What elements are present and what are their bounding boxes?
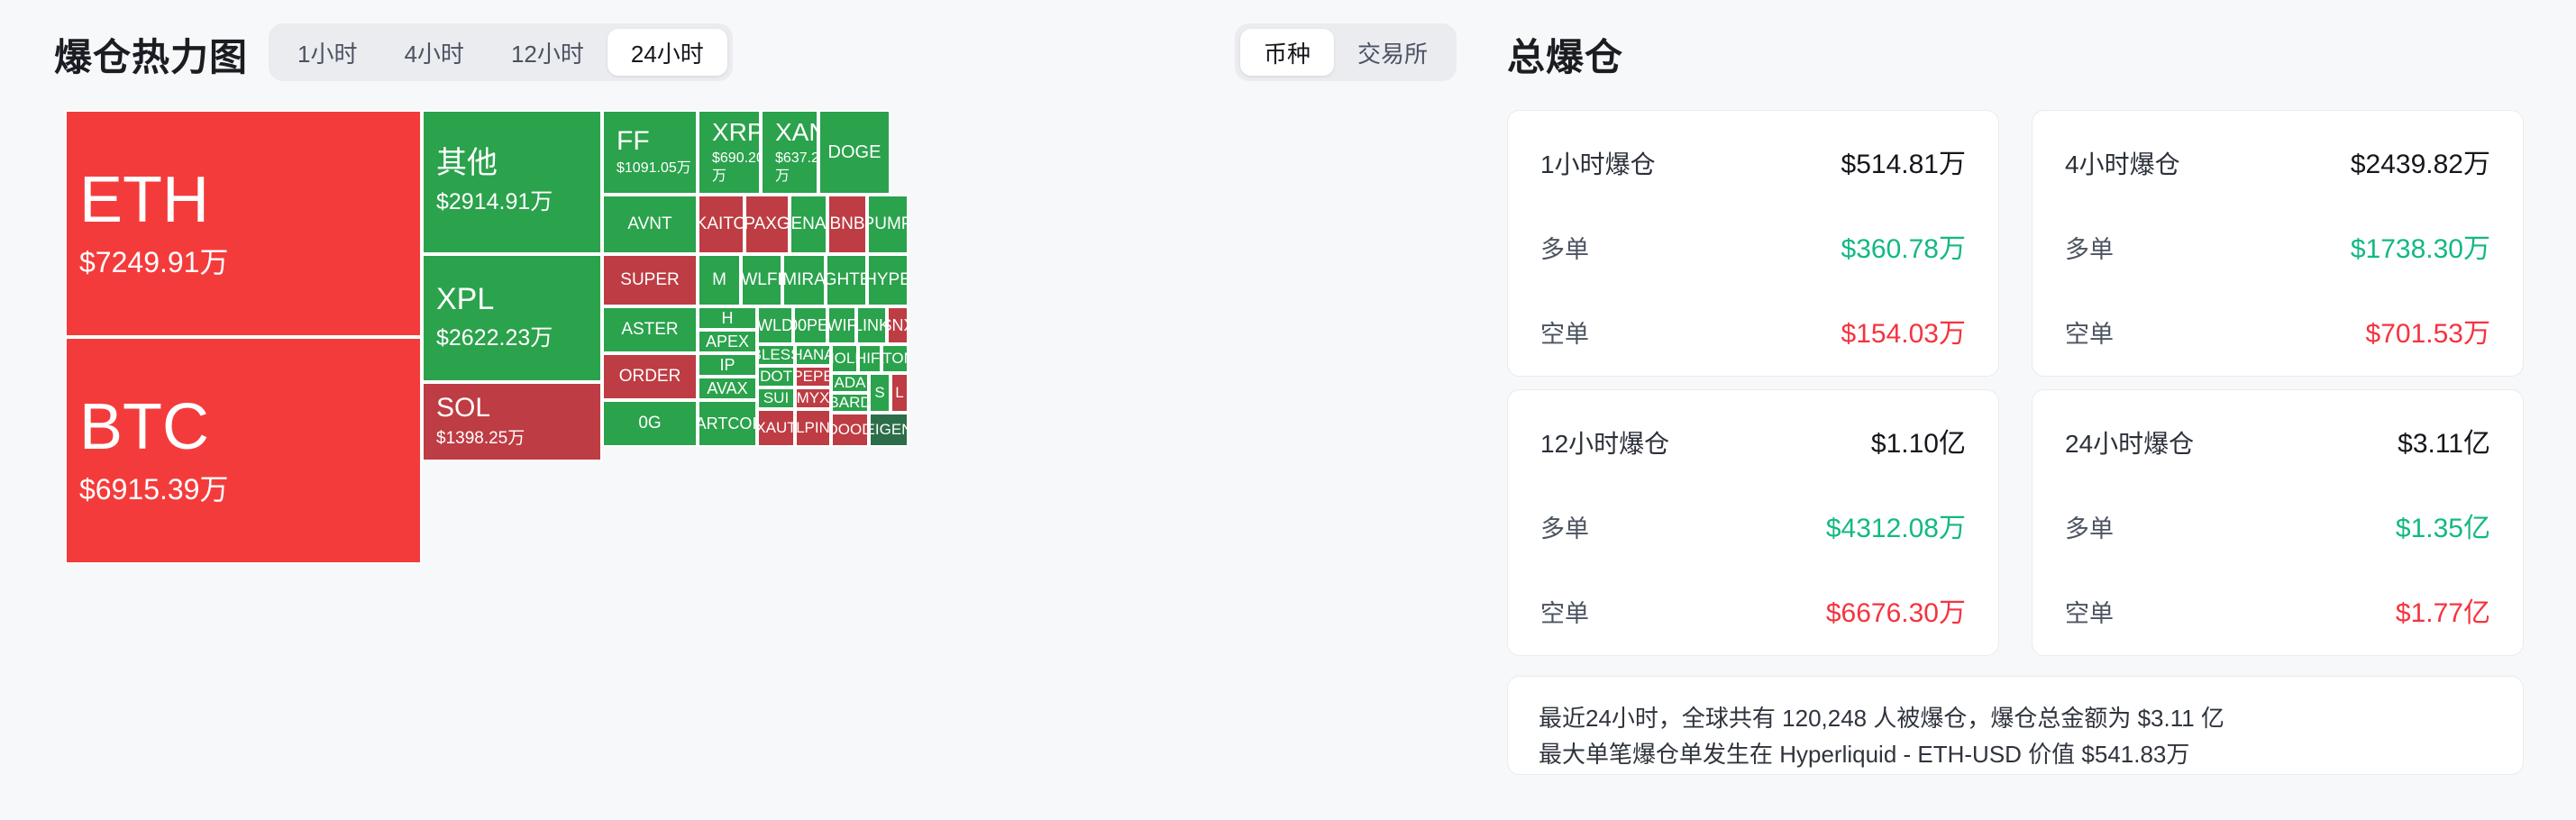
treemap-tile-wif[interactable]: WIF — [827, 306, 856, 344]
treemap-tile-ada[interactable]: ADA — [831, 373, 869, 393]
stat-card-12h[interactable]: 12小时爆仓 $1.10亿 多单 $4312.08万 空单 $6676.30万 — [1507, 389, 1999, 656]
tile-symbol: WLD — [757, 317, 793, 334]
tile-symbol: HANA — [795, 347, 831, 363]
tile-symbol: HOLD — [831, 351, 858, 367]
tile-value: $1091.05万 — [617, 159, 683, 178]
tile-symbol: LIGHTER — [826, 271, 867, 289]
short-value: $6676.30万 — [1826, 590, 1966, 630]
stat-long-row: 多单 $1738.30万 — [2065, 226, 2490, 266]
treemap-tile-hifi[interactable]: HIFI — [858, 344, 882, 373]
tile-symbol: ALPINE — [795, 420, 831, 436]
summary-card: 最近24小时，全球共有 120,248 人被爆仓，爆仓总金额为 $3.11 亿 … — [1507, 676, 2524, 775]
treemap-tile-pepe[interactable]: PEPE — [795, 366, 831, 387]
tile-symbol: MYX — [797, 390, 830, 406]
tile-value: $637.28万 — [775, 150, 804, 186]
tile-symbol: SUI — [763, 390, 789, 406]
tab-24h[interactable]: 24小时 — [607, 29, 727, 76]
treemap-tile-xaut[interactable]: XAUT — [757, 409, 795, 447]
treemap-tile-apex[interactable]: APEX — [698, 330, 757, 353]
short-value: $1.77亿 — [2396, 590, 2490, 630]
tile-symbol: ADA — [835, 375, 866, 391]
tile-symbol: BARD — [831, 395, 869, 411]
treemap-tile-super[interactable]: SUPER — [602, 254, 698, 306]
long-value: $1.35亿 — [2396, 506, 2490, 545]
treemap-tile-s[interactable]: S — [869, 373, 891, 413]
tile-symbol: EIGEN — [869, 422, 909, 438]
treemap-tile-fartcoin[interactable]: FARTCOIN — [698, 400, 757, 447]
treemap-tile-sui[interactable]: SUI — [757, 387, 795, 409]
tile-symbol: ORDER — [619, 368, 681, 386]
tile-value: $7249.91万 — [79, 244, 407, 280]
tile-symbol: PUMP — [867, 215, 909, 233]
liquidation-treemap[interactable]: ETH $7249.91万 BTC $6915.39万 其他 $2914.91万… — [65, 110, 1500, 768]
time-range-tabs[interactable]: 1小时 4小时 12小时 24小时 — [269, 23, 733, 81]
tile-symbol: H — [722, 310, 734, 327]
treemap-tile-sol[interactable]: SOL $1398.25万 — [422, 382, 602, 461]
long-label: 多单 — [1540, 230, 1589, 265]
stat-total: $2439.82万 — [2351, 141, 2490, 181]
summary-line-2: 最大单笔爆仓单发生在 Hyperliquid - ETH-USD 价值 $541… — [1539, 736, 2492, 772]
long-label: 多单 — [2065, 509, 2114, 544]
group-mode-tabs[interactable]: 币种 交易所 — [1235, 23, 1457, 81]
tile-symbol: WLFI — [741, 271, 781, 289]
long-label: 多单 — [1540, 509, 1589, 544]
treemap-tile-eth[interactable]: ETH $7249.91万 — [65, 110, 422, 337]
tile-symbol: M — [712, 271, 726, 289]
treemap-tile-bnb[interactable]: BNB — [827, 195, 867, 254]
tab-12h[interactable]: 12小时 — [488, 29, 607, 76]
stat-header: 12小时爆仓 $1.10亿 — [1540, 421, 1966, 460]
stat-short-row: 空单 $154.03万 — [1540, 311, 1966, 351]
tile-symbol: FARTCOIN — [698, 415, 757, 433]
page-header: 爆仓热力图 1小时 4小时 12小时 24小时 币种 交易所 总爆仓 — [0, 0, 2576, 101]
tile-symbol: ENA — [790, 215, 826, 233]
stat-card-1h[interactable]: 1小时爆仓 $514.81万 多单 $360.78万 空单 $154.03万 — [1507, 110, 1999, 377]
tile-symbol: XPL — [436, 284, 588, 316]
treemap-tile-aster[interactable]: ASTER — [602, 306, 698, 353]
long-value: $1738.30万 — [2351, 226, 2490, 266]
stat-total: $1.10亿 — [1871, 421, 1966, 460]
tile-symbol: ETH — [79, 167, 407, 235]
treemap-tile-pump[interactable]: PUMP — [867, 195, 909, 254]
tile-symbol: AVNT — [627, 215, 671, 233]
stat-total: $514.81万 — [1841, 141, 1966, 181]
tile-symbol: L — [895, 385, 903, 401]
tile-value: $2622.23万 — [436, 324, 588, 352]
treemap-tile-avax[interactable]: AVAX — [698, 377, 757, 400]
tile-symbol: XRP — [712, 119, 746, 145]
short-label: 空单 — [2065, 314, 2114, 350]
stat-long-row: 多单 $1.35亿 — [2065, 506, 2490, 545]
tile-symbol: IP — [719, 357, 735, 374]
totals-title: 总爆仓 — [1507, 27, 1623, 82]
treemap-tile-xpl[interactable]: XPL $2622.23万 — [422, 254, 602, 382]
tile-symbol: WIF — [827, 317, 856, 334]
treemap-tile-hana[interactable]: HANA — [795, 344, 831, 366]
stat-short-row: 空单 $6676.30万 — [1540, 590, 1966, 630]
treemap-tile-hype[interactable]: HYPE — [867, 254, 909, 306]
stat-short-row: 空单 $701.53万 — [2065, 311, 2490, 351]
tile-symbol: BNB — [829, 215, 864, 233]
tile-symbol: S — [874, 385, 884, 401]
treemap-tile-snx[interactable]: SNX — [887, 306, 909, 344]
stat-header: 4小时爆仓 $2439.82万 — [2065, 141, 2490, 181]
tile-symbol: SNX — [887, 317, 909, 334]
treemap-tile-1000pepe[interactable]: 1000PEPE — [793, 306, 827, 344]
stat-long-row: 多单 $360.78万 — [1540, 226, 1966, 266]
tile-value: $6915.39万 — [79, 471, 407, 507]
treemap-tile-lighter[interactable]: LIGHTER — [826, 254, 867, 306]
treemap-tile-btc[interactable]: BTC $6915.39万 — [65, 337, 422, 564]
treemap-tile-mira[interactable]: MIRA — [782, 254, 826, 306]
treemap-tile-avnt[interactable]: AVNT — [602, 195, 698, 254]
treemap-tile-dood[interactable]: DOOD — [831, 413, 869, 447]
tile-symbol: PEPE — [795, 369, 831, 385]
tile-symbol: DOT — [760, 369, 792, 385]
stat-title: 1小时爆仓 — [1540, 145, 1656, 181]
tile-symbol: 1000PEPE — [793, 317, 827, 334]
treemap-tile-ena[interactable]: ENA — [790, 195, 827, 254]
tile-symbol: ATOM — [882, 351, 909, 367]
treemap-tile-doge[interactable]: DOGE — [818, 110, 891, 195]
treemap-tile-paxg[interactable]: PAXG — [744, 195, 790, 254]
treemap-tile-l[interactable]: L — [891, 373, 909, 413]
tile-symbol: FF — [617, 127, 683, 156]
tile-value: $1398.25万 — [436, 428, 588, 450]
long-value: $360.78万 — [1841, 226, 1966, 266]
treemap-tile-h[interactable]: H — [698, 306, 757, 330]
heatmap-title: 爆仓热力图 — [54, 27, 248, 82]
tile-value: $2914.91万 — [436, 188, 588, 216]
short-label: 空单 — [1540, 314, 1589, 350]
tile-symbol: HIFI — [858, 351, 882, 367]
tile-symbol: AVAX — [707, 380, 747, 397]
short-label: 空单 — [1540, 594, 1589, 629]
stat-card-24h[interactable]: 24小时爆仓 $3.11亿 多单 $1.35亿 空单 $1.77亿 — [2032, 389, 2524, 656]
treemap-tile-wlfi[interactable]: WLFI — [741, 254, 782, 306]
tile-symbol: LINK — [856, 317, 887, 334]
tab-1h[interactable]: 1小时 — [274, 29, 380, 76]
treemap-tile-others[interactable]: 其他 $2914.91万 — [422, 110, 602, 254]
treemap-tile-hold[interactable]: HOLD — [831, 344, 858, 373]
stat-header: 1小时爆仓 $514.81万 — [1540, 141, 1966, 181]
stat-title: 12小时爆仓 — [1540, 424, 1669, 460]
treemap-tile-0g[interactable]: 0G — [602, 400, 698, 447]
treemap-tile-ff[interactable]: FF $1091.05万 — [602, 110, 698, 195]
tile-symbol: KAITO — [698, 215, 744, 233]
tab-by-coin[interactable]: 币种 — [1240, 29, 1334, 76]
treemap-tile-alpine[interactable]: ALPINE — [795, 409, 831, 447]
treemap-tile-link[interactable]: LINK — [856, 306, 887, 344]
treemap-tile-m[interactable]: M — [698, 254, 741, 306]
tile-symbol: XAUT — [757, 420, 795, 436]
short-value: $701.53万 — [2366, 311, 2490, 351]
stat-header: 24小时爆仓 $3.11亿 — [2065, 421, 2490, 460]
stat-title: 4小时爆仓 — [2065, 145, 2180, 181]
tab-4h[interactable]: 4小时 — [380, 29, 487, 76]
tile-symbol: BLESS — [757, 347, 795, 363]
tile-symbol: 其他 — [436, 148, 588, 180]
treemap-tile-xana[interactable]: XANA $637.28万 — [761, 110, 818, 195]
treemap-tile-atom[interactable]: ATOM — [882, 344, 909, 373]
stat-card-4h[interactable]: 4小时爆仓 $2439.82万 多单 $1738.30万 空单 $701.53万 — [2032, 110, 2524, 377]
tile-symbol: SOL — [436, 394, 588, 423]
tile-symbol: HYPE — [867, 271, 909, 289]
treemap-tile-order[interactable]: ORDER — [602, 353, 698, 400]
treemap-tile-dot[interactable]: DOT — [757, 366, 795, 387]
tile-symbol: DOGE — [828, 143, 882, 162]
treemap-tile-wld[interactable]: WLD — [757, 306, 793, 344]
tile-symbol: ASTER — [621, 321, 678, 339]
tile-symbol: MIRA — [782, 271, 826, 289]
long-value: $4312.08万 — [1826, 506, 1966, 545]
tile-symbol: 0G — [638, 415, 661, 433]
short-value: $154.03万 — [1841, 311, 1966, 351]
treemap-tile-bless[interactable]: BLESS — [757, 344, 795, 366]
tile-value: $690.20万 — [712, 150, 746, 186]
stat-short-row: 空单 $1.77亿 — [2065, 590, 2490, 630]
treemap-tile-bard[interactable]: BARD — [831, 393, 869, 413]
tile-symbol: PAXG — [744, 215, 790, 233]
long-label: 多单 — [2065, 230, 2114, 265]
tile-symbol: BTC — [79, 394, 407, 462]
tab-by-exchange[interactable]: 交易所 — [1334, 29, 1451, 76]
treemap-tile-myx[interactable]: MYX — [795, 387, 831, 409]
tile-symbol: DOOD — [831, 422, 869, 438]
tile-symbol: APEX — [706, 333, 749, 351]
summary-line-1: 最近24小时，全球共有 120,248 人被爆仓，爆仓总金额为 $3.11 亿 — [1539, 700, 2492, 736]
tile-symbol: SUPER — [620, 271, 679, 289]
treemap-tile-ip[interactable]: IP — [698, 353, 757, 377]
treemap-tile-eigen[interactable]: EIGEN — [869, 413, 909, 447]
stat-long-row: 多单 $4312.08万 — [1540, 506, 1966, 545]
short-label: 空单 — [2065, 594, 2114, 629]
treemap-tile-kaito[interactable]: KAITO — [698, 195, 744, 254]
treemap-tile-xrp[interactable]: XRP $690.20万 — [698, 110, 761, 195]
tile-symbol: XANA — [775, 119, 804, 145]
stat-title: 24小时爆仓 — [2065, 424, 2194, 460]
stat-total: $3.11亿 — [2398, 421, 2490, 460]
